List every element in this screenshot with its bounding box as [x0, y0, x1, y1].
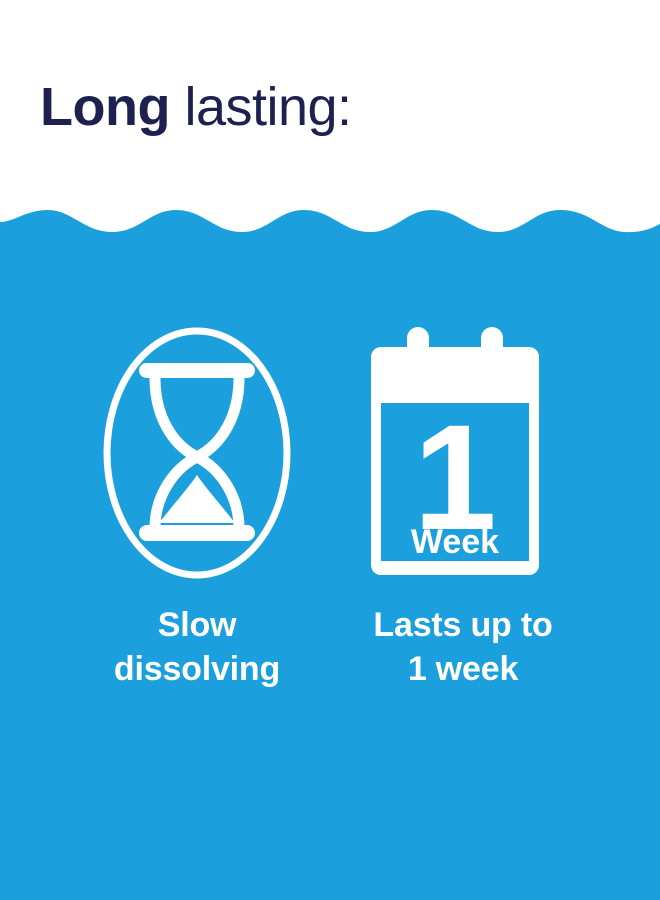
poster: Long lasting: [0, 0, 660, 900]
features-row: Slow dissolving 1 Week [0, 200, 660, 900]
feature-slow-dissolving: Slow dissolving [72, 325, 322, 691]
hourglass-oval-icon-wrap [72, 325, 322, 595]
feature-lasts-one-week: 1 Week Lasts up to 1 week [338, 325, 588, 691]
caption-line-2: 1 week [338, 647, 588, 691]
feature-caption-slow-dissolving: Slow dissolving [72, 603, 322, 691]
headline-bold-part: Long [40, 77, 170, 137]
header: Long lasting: [0, 0, 660, 205]
feature-caption-lasts-one-week: Lasts up to 1 week [338, 603, 588, 691]
caption-line-2: dissolving [72, 647, 322, 691]
hourglass-upper-right-curve [197, 378, 239, 457]
caption-line-1: Lasts up to [338, 603, 588, 647]
calendar-icon-wrap: 1 Week [338, 325, 588, 595]
hourglass-upper-left-curve [155, 378, 197, 457]
page-title: Long lasting: [40, 78, 352, 136]
calendar-unit-label: Week [411, 523, 499, 561]
headline-regular-part: lasting: [170, 77, 352, 137]
caption-line-1: Slow [72, 603, 322, 647]
hourglass-oval-icon [97, 325, 297, 591]
calendar-icon: 1 Week [363, 325, 563, 591]
